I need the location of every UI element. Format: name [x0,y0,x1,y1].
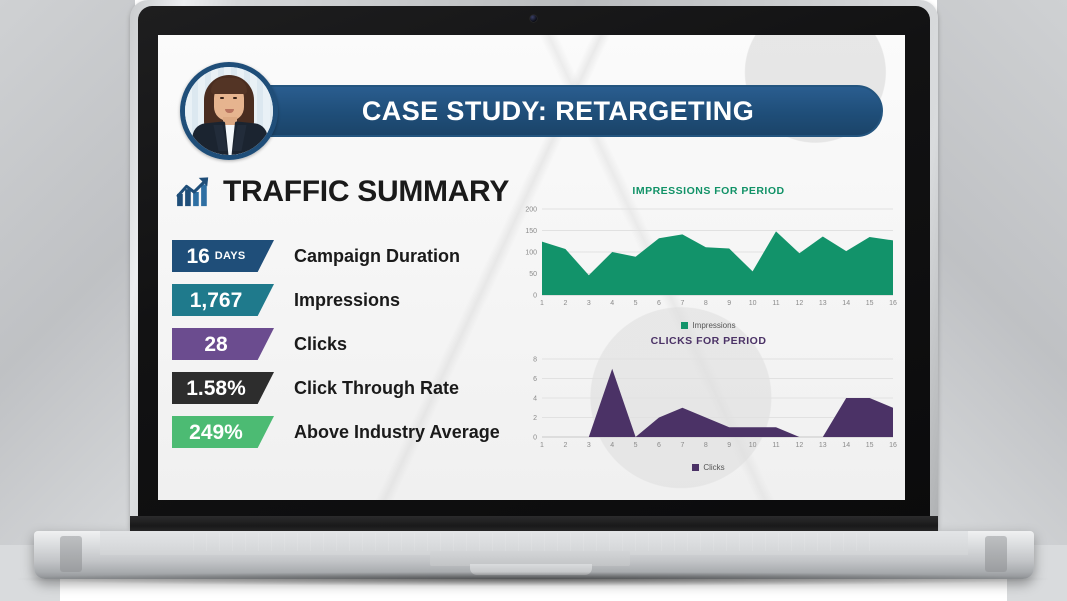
stat-banner: 249% [172,416,274,448]
svg-text:8: 8 [533,357,537,364]
stat-unit: DAYS [215,250,246,262]
stat-value: 16 [186,246,209,267]
stat-value: 1,767 [190,290,243,311]
svg-text:8: 8 [704,300,708,307]
impressions-chart-title: IMPRESSIONS FOR PERIOD [516,185,901,197]
svg-text:6: 6 [533,376,537,383]
svg-text:10: 10 [749,442,757,449]
clicks-chart: CLICKS FOR PERIOD 0246812345678910111213… [516,335,901,475]
impressions-legend-label: Impressions [692,321,735,330]
svg-text:0: 0 [533,435,537,442]
svg-text:0: 0 [533,293,537,300]
growth-chart-icon [176,176,214,208]
svg-text:16: 16 [889,300,897,307]
svg-text:11: 11 [772,300,779,307]
svg-text:150: 150 [525,228,537,235]
svg-text:4: 4 [610,442,614,449]
svg-text:9: 9 [727,300,731,307]
laptop-keyboard [193,533,875,551]
svg-text:13: 13 [819,442,827,449]
summary-title: TRAFFIC SUMMARY [223,175,509,209]
svg-text:15: 15 [866,442,874,449]
svg-text:1: 1 [540,442,544,449]
laptop-screen: CASE STUDY: RETARGETING [158,35,905,500]
webcam-icon [530,15,537,22]
svg-text:11: 11 [772,442,779,449]
svg-text:3: 3 [587,442,591,449]
svg-text:3: 3 [587,300,591,307]
laptop-shadow [18,572,1048,586]
laptop-foot-right [985,536,1007,572]
page-title: CASE STUDY: RETARGETING [362,96,754,127]
svg-text:8: 8 [704,442,708,449]
stat-label: Above Industry Average [294,422,500,443]
svg-text:7: 7 [680,300,684,307]
background-left [0,0,135,545]
svg-text:2: 2 [533,415,537,422]
clicks-legend-label: Clicks [703,463,724,472]
laptop-mockup: CASE STUDY: RETARGETING [0,0,1067,601]
stat-banner: 1,767 [172,284,274,316]
impressions-legend-swatch [681,322,688,329]
stat-banner: 28 [172,328,274,360]
stat-row: 1.58%Click Through Rate [172,371,522,405]
svg-text:13: 13 [819,300,827,307]
laptop-foot-left [60,536,82,572]
stat-row: 16DAYSCampaign Duration [172,239,522,273]
stat-value: 1.58% [186,378,246,399]
stat-label: Impressions [294,290,400,311]
clicks-plot-area: 0246812345678910111213141516 [516,353,901,458]
title-banner: CASE STUDY: RETARGETING [233,85,883,137]
stat-banner: 16DAYS [172,240,274,272]
svg-text:14: 14 [842,442,850,449]
svg-text:16: 16 [889,442,897,449]
impressions-plot-area: 05010015020012345678910111213141516 [516,203,901,316]
svg-text:5: 5 [634,300,638,307]
background-right [937,0,1067,545]
stat-row: 28Clicks [172,327,522,361]
stat-row: 1,767Impressions [172,283,522,317]
svg-text:2: 2 [563,442,567,449]
svg-text:5: 5 [634,442,638,449]
svg-text:200: 200 [525,207,537,214]
svg-text:6: 6 [657,300,661,307]
stat-row: 249%Above Industry Average [172,415,522,449]
svg-text:50: 50 [529,271,537,278]
stats-list: 16DAYSCampaign Duration1,767Impressions2… [172,239,522,449]
svg-text:4: 4 [533,396,537,403]
svg-text:2: 2 [563,300,567,307]
impressions-legend: Impressions [516,321,901,330]
clicks-legend: Clicks [516,463,901,472]
svg-text:14: 14 [842,300,850,307]
svg-text:15: 15 [866,300,874,307]
avatar [180,62,278,160]
slide-header: CASE STUDY: RETARGETING [158,35,905,155]
svg-text:100: 100 [525,250,537,257]
traffic-summary-section: TRAFFIC SUMMARY 16DAYSCampaign Duration1… [172,175,522,459]
impressions-chart: IMPRESSIONS FOR PERIOD 05010015020012345… [516,185,901,330]
svg-text:1: 1 [540,300,544,307]
svg-text:4: 4 [610,300,614,307]
svg-text:7: 7 [680,442,684,449]
svg-text:6: 6 [657,442,661,449]
stat-label: Clicks [294,334,347,355]
clicks-legend-swatch [692,464,699,471]
stat-value: 249% [189,422,243,443]
summary-heading: TRAFFIC SUMMARY [176,175,522,209]
clicks-chart-title: CLICKS FOR PERIOD [516,335,901,347]
stat-label: Campaign Duration [294,246,460,267]
stat-value: 28 [204,334,227,355]
svg-text:12: 12 [796,442,804,449]
svg-text:9: 9 [727,442,731,449]
svg-text:12: 12 [796,300,804,307]
stat-label: Click Through Rate [294,378,459,399]
svg-text:10: 10 [749,300,757,307]
presenter-photo [185,67,273,155]
stat-banner: 1.58% [172,372,274,404]
